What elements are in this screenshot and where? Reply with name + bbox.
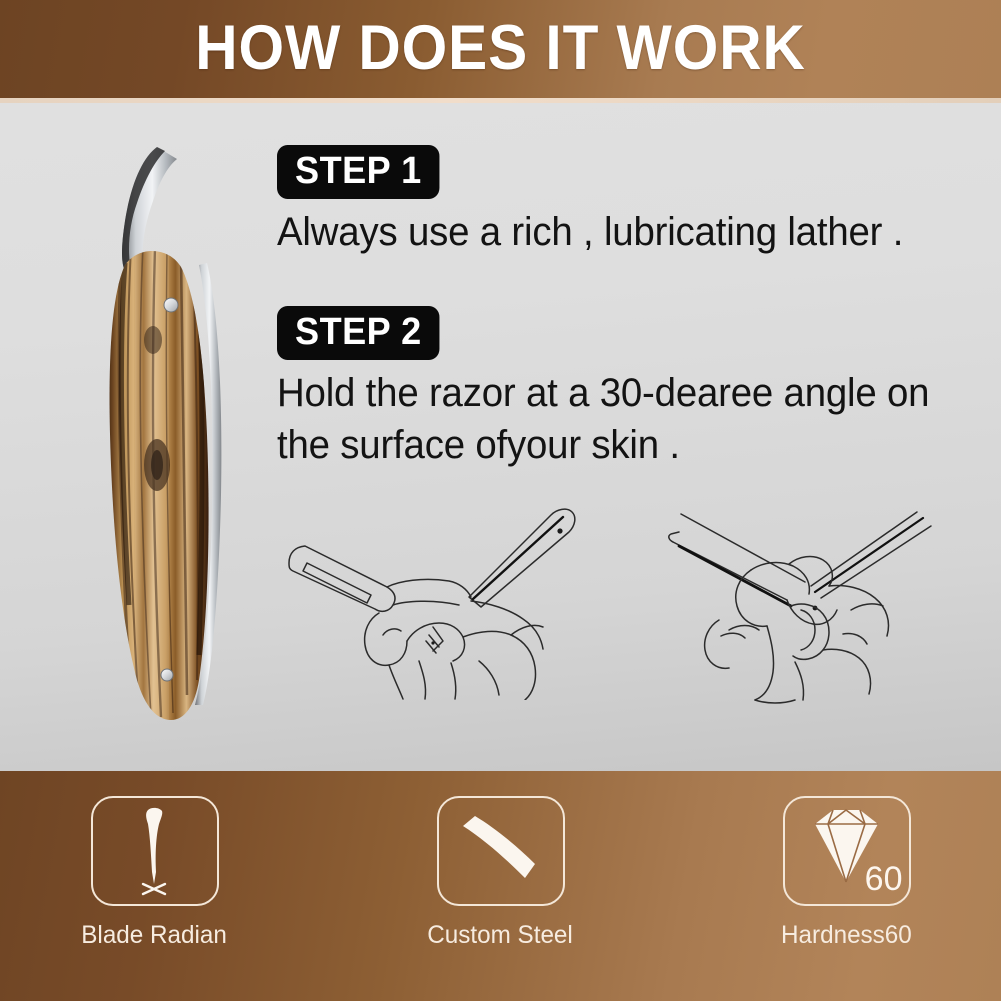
illustration-2-svg (655, 490, 975, 705)
blade-radian-icon-box (91, 796, 219, 906)
step-1-text: Always use a rich , lubricating lather . (277, 206, 959, 258)
razor-illustration-svg (95, 135, 280, 735)
feature-label-hardness: Hardness60 (781, 921, 912, 949)
hardness-badge: 60 (865, 862, 903, 896)
feature-label-custom-steel: Custom Steel (428, 921, 574, 949)
hand-gripping-razor-closeup-illustration (655, 490, 975, 705)
page-title: HOW DOES IT WORK (35, 8, 966, 88)
steps-area: STEP 1 Always use a rich , lubricating l… (277, 145, 987, 483)
feature-item-custom-steel[interactable]: Custom Steel (393, 796, 608, 949)
step-2-badge: STEP 2 (277, 306, 440, 360)
razor-product-photo (95, 135, 280, 735)
diamond-hardness-icon-box: 60 (783, 796, 911, 906)
feature-band: Blade Radian Custom Steel (0, 771, 1001, 1001)
feature-item-blade-radian[interactable]: Blade Radian (47, 796, 262, 949)
razor-handle (105, 235, 215, 735)
header-band: HOW DOES IT WORK (0, 0, 1001, 98)
custom-steel-icon (439, 798, 562, 903)
illustration-1-svg (283, 495, 598, 700)
step-2-text: Hold the razor at a 30-dearee angle on t… (277, 367, 959, 471)
blade-radian-icon (93, 798, 216, 903)
hand-holding-open-razor-illustration (283, 495, 598, 700)
how-does-it-work-poster: HOW DOES IT WORK (0, 0, 1001, 1001)
feature-label-blade-radian: Blade Radian (82, 921, 228, 949)
custom-steel-icon-box (437, 796, 565, 906)
step-block-2: STEP 2 Hold the razor at a 30-dearee ang… (277, 306, 987, 471)
feature-item-hardness[interactable]: 60 Hardness60 (739, 796, 954, 949)
feature-row: Blade Radian Custom Steel (0, 771, 1001, 1001)
step-block-1: STEP 1 Always use a rich , lubricating l… (277, 145, 987, 258)
step-1-badge: STEP 1 (277, 145, 440, 199)
